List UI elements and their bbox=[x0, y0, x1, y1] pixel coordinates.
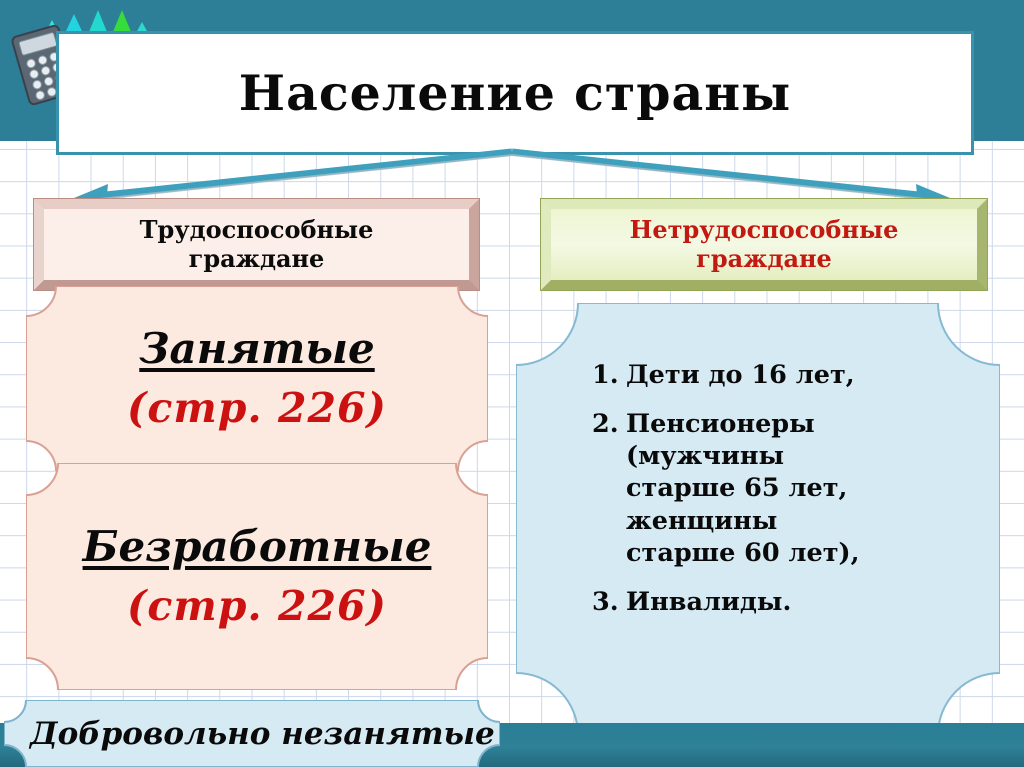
right-branch-header-box: Нетрудоспособные граждане bbox=[541, 199, 987, 290]
right-branch-list: 1. Дети до 16 лет, 2. Пенсионеры (мужчин… bbox=[516, 303, 1000, 735]
left-branch-header-label: Трудоспособные граждане bbox=[44, 209, 469, 280]
list-item-text: Пенсионеры (мужчины старше 65 лет, женщи… bbox=[626, 408, 980, 569]
list-item: 1. Дети до 16 лет, bbox=[592, 359, 980, 391]
title-box: Население страны bbox=[56, 31, 974, 155]
zanyatye-page-ref: (стр. 226) bbox=[127, 386, 387, 431]
list-item-number: 1. bbox=[592, 359, 626, 391]
left-branch-item-bezrabotnye: Безработные (стр. 226) bbox=[26, 463, 488, 690]
arrow-left-icon bbox=[96, 152, 512, 196]
page-title: Население страны bbox=[239, 69, 791, 118]
dobrovolno-nezanyatye-label: Добровольно незанятые bbox=[4, 716, 500, 752]
left-branch-item-zanyatye: Занятые (стр. 226) bbox=[26, 286, 488, 471]
left-branch-header-box: Трудоспособные граждане bbox=[34, 199, 479, 290]
bezrabotnye-page-ref: (стр. 226) bbox=[127, 584, 387, 629]
list-item-text: Дети до 16 лет, bbox=[626, 359, 980, 391]
bezrabotnye-label: Безработные bbox=[83, 524, 432, 570]
right-branch-list-box: 1. Дети до 16 лет, 2. Пенсионеры (мужчин… bbox=[516, 303, 1000, 735]
list-item-text: Инвалиды. bbox=[626, 586, 980, 618]
slide-root: Население страны Трудоспособные граждане… bbox=[0, 0, 1024, 767]
left-branch-footer-box: Добровольно незанятые bbox=[4, 700, 500, 767]
list-item-number: 3. bbox=[592, 586, 626, 618]
list-item: 2. Пенсионеры (мужчины старше 65 лет, же… bbox=[592, 408, 980, 569]
list-item: 3. Инвалиды. bbox=[592, 586, 980, 618]
arrow-right-icon bbox=[512, 152, 928, 196]
list-item-number: 2. bbox=[592, 408, 626, 440]
zanyatye-label: Занятые bbox=[139, 326, 374, 372]
right-branch-header-label: Нетрудоспособные граждане bbox=[551, 209, 977, 280]
